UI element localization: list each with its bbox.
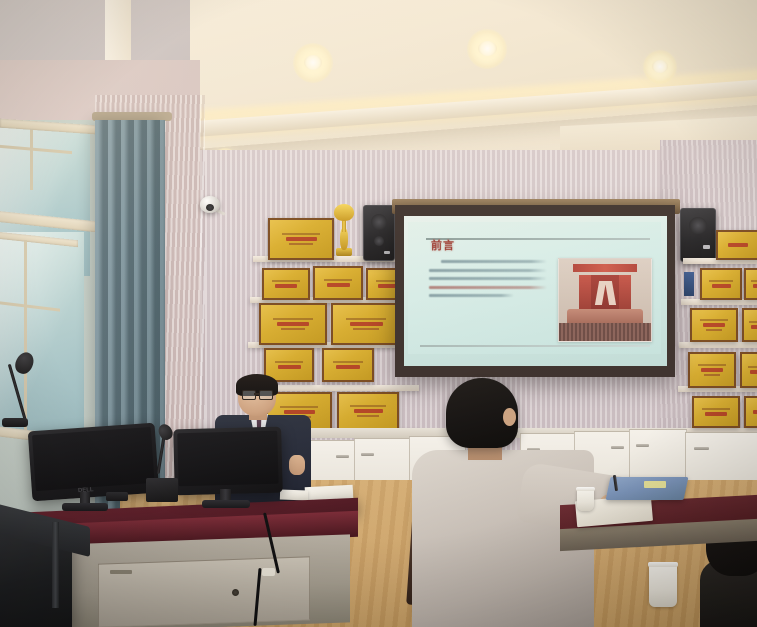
monitor-left-stand-base	[62, 503, 108, 511]
binder-label	[644, 481, 666, 488]
conference-room-photo: 前言	[0, 0, 757, 627]
paper-cup-lid	[576, 487, 595, 491]
slide-divider-bottom	[420, 345, 650, 347]
award-plaque	[313, 266, 363, 300]
award-plaque	[688, 352, 736, 388]
presenter-glasses-left	[242, 390, 256, 400]
monitor-right[interactable]	[173, 427, 283, 496]
monitor-left[interactable]: DELL	[28, 423, 160, 502]
award-plaque	[742, 308, 757, 342]
award-plaque	[337, 392, 399, 430]
window-glint-lower	[0, 232, 84, 432]
microphone-base	[2, 418, 28, 427]
award-plaque	[322, 348, 374, 382]
award-plaque	[744, 396, 757, 428]
presenter-glasses-bridge	[254, 393, 259, 395]
desk-papers[interactable]	[280, 490, 308, 501]
award-plaque	[700, 268, 742, 300]
downlight-icon	[643, 50, 677, 84]
award-plaque	[268, 218, 334, 260]
cabinet-handle[interactable]	[694, 447, 709, 450]
slide-title: 前言	[431, 241, 455, 252]
paper-cup[interactable]	[577, 489, 594, 511]
downlight-icon	[467, 29, 507, 69]
blue-book	[684, 272, 694, 296]
trophy-icon	[334, 204, 354, 221]
slide-body-text	[429, 260, 547, 303]
award-plaque	[331, 303, 401, 345]
award-plaque	[259, 303, 327, 345]
cabinet-handle[interactable]	[636, 444, 649, 447]
award-plaque	[744, 268, 757, 300]
presenter-hand	[289, 455, 305, 475]
monitor-right-stand-base	[202, 500, 250, 508]
presenter-glasses-right	[259, 390, 273, 400]
paper-cup[interactable]	[649, 565, 677, 607]
plaque-shelf	[679, 342, 757, 348]
desk-device-small	[106, 492, 128, 501]
award-plaque	[716, 230, 757, 260]
desk-device-black-box	[146, 478, 178, 502]
security-camera-icon	[200, 196, 220, 213]
cabinet-handle[interactable]	[611, 446, 624, 449]
downlight-icon	[293, 43, 333, 83]
window-mullion-vert	[30, 130, 33, 190]
attendee-ear	[503, 408, 516, 426]
lectern-post	[52, 522, 59, 608]
desk-vent-slot	[110, 570, 132, 574]
slide-photo	[558, 258, 652, 342]
cabinet-handle[interactable]	[336, 455, 349, 458]
desk-lock-knob[interactable]	[232, 589, 239, 596]
award-plaque	[262, 268, 310, 300]
award-plaque	[690, 308, 738, 342]
cabinet-handle[interactable]	[361, 453, 374, 456]
award-plaque	[740, 352, 757, 388]
award-plaque	[692, 396, 740, 428]
wall-speaker-left	[363, 205, 395, 261]
window-mullion-vert-lower	[24, 240, 27, 430]
paper-cup-lid	[648, 562, 678, 567]
cable-clip	[262, 568, 275, 576]
slide-divider-top	[426, 238, 650, 240]
wall-speaker-right	[680, 208, 716, 262]
